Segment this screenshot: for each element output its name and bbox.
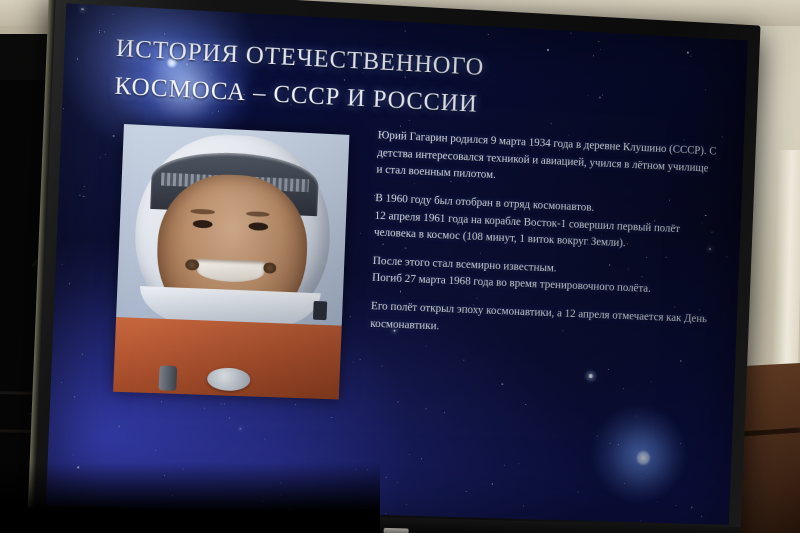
helmet-side-tab: [313, 301, 327, 320]
television[interactable]: История отечественного космоса – СССР и …: [27, 0, 761, 533]
gagarin-photo: [113, 124, 350, 400]
slide-body-text: Юрий Гагарин родился 9 марта 1934 года в…: [370, 127, 718, 356]
slide-paragraph: В 1960 году был отобран в отряд космонав…: [374, 189, 715, 255]
eye-left: [193, 219, 213, 228]
smile: [197, 258, 265, 282]
eye-right: [248, 222, 268, 231]
microphone-right: [263, 263, 277, 274]
bright-star-icon-lower-right: [635, 449, 652, 466]
orange-spacesuit-collar: [113, 317, 342, 400]
slide-paragraph: Его полёт открыл эпоху космонавтики, а 1…: [370, 297, 711, 345]
eyebrow-right: [246, 211, 270, 217]
slide-paragraph: После этого стал всемирно известным.Поги…: [372, 252, 713, 300]
foreground-shadow: [0, 463, 380, 533]
eyebrow-left: [190, 209, 214, 215]
room-scene: История отечественного космоса – СССР и …: [0, 0, 800, 533]
tv-ir-receiver-icon: [383, 528, 408, 533]
small-star-icon: [588, 374, 592, 378]
suit-valve-knob: [206, 368, 250, 392]
tv-screen[interactable]: История отечественного космоса – СССР и …: [46, 3, 748, 525]
suit-hose-fitting: [158, 365, 177, 391]
